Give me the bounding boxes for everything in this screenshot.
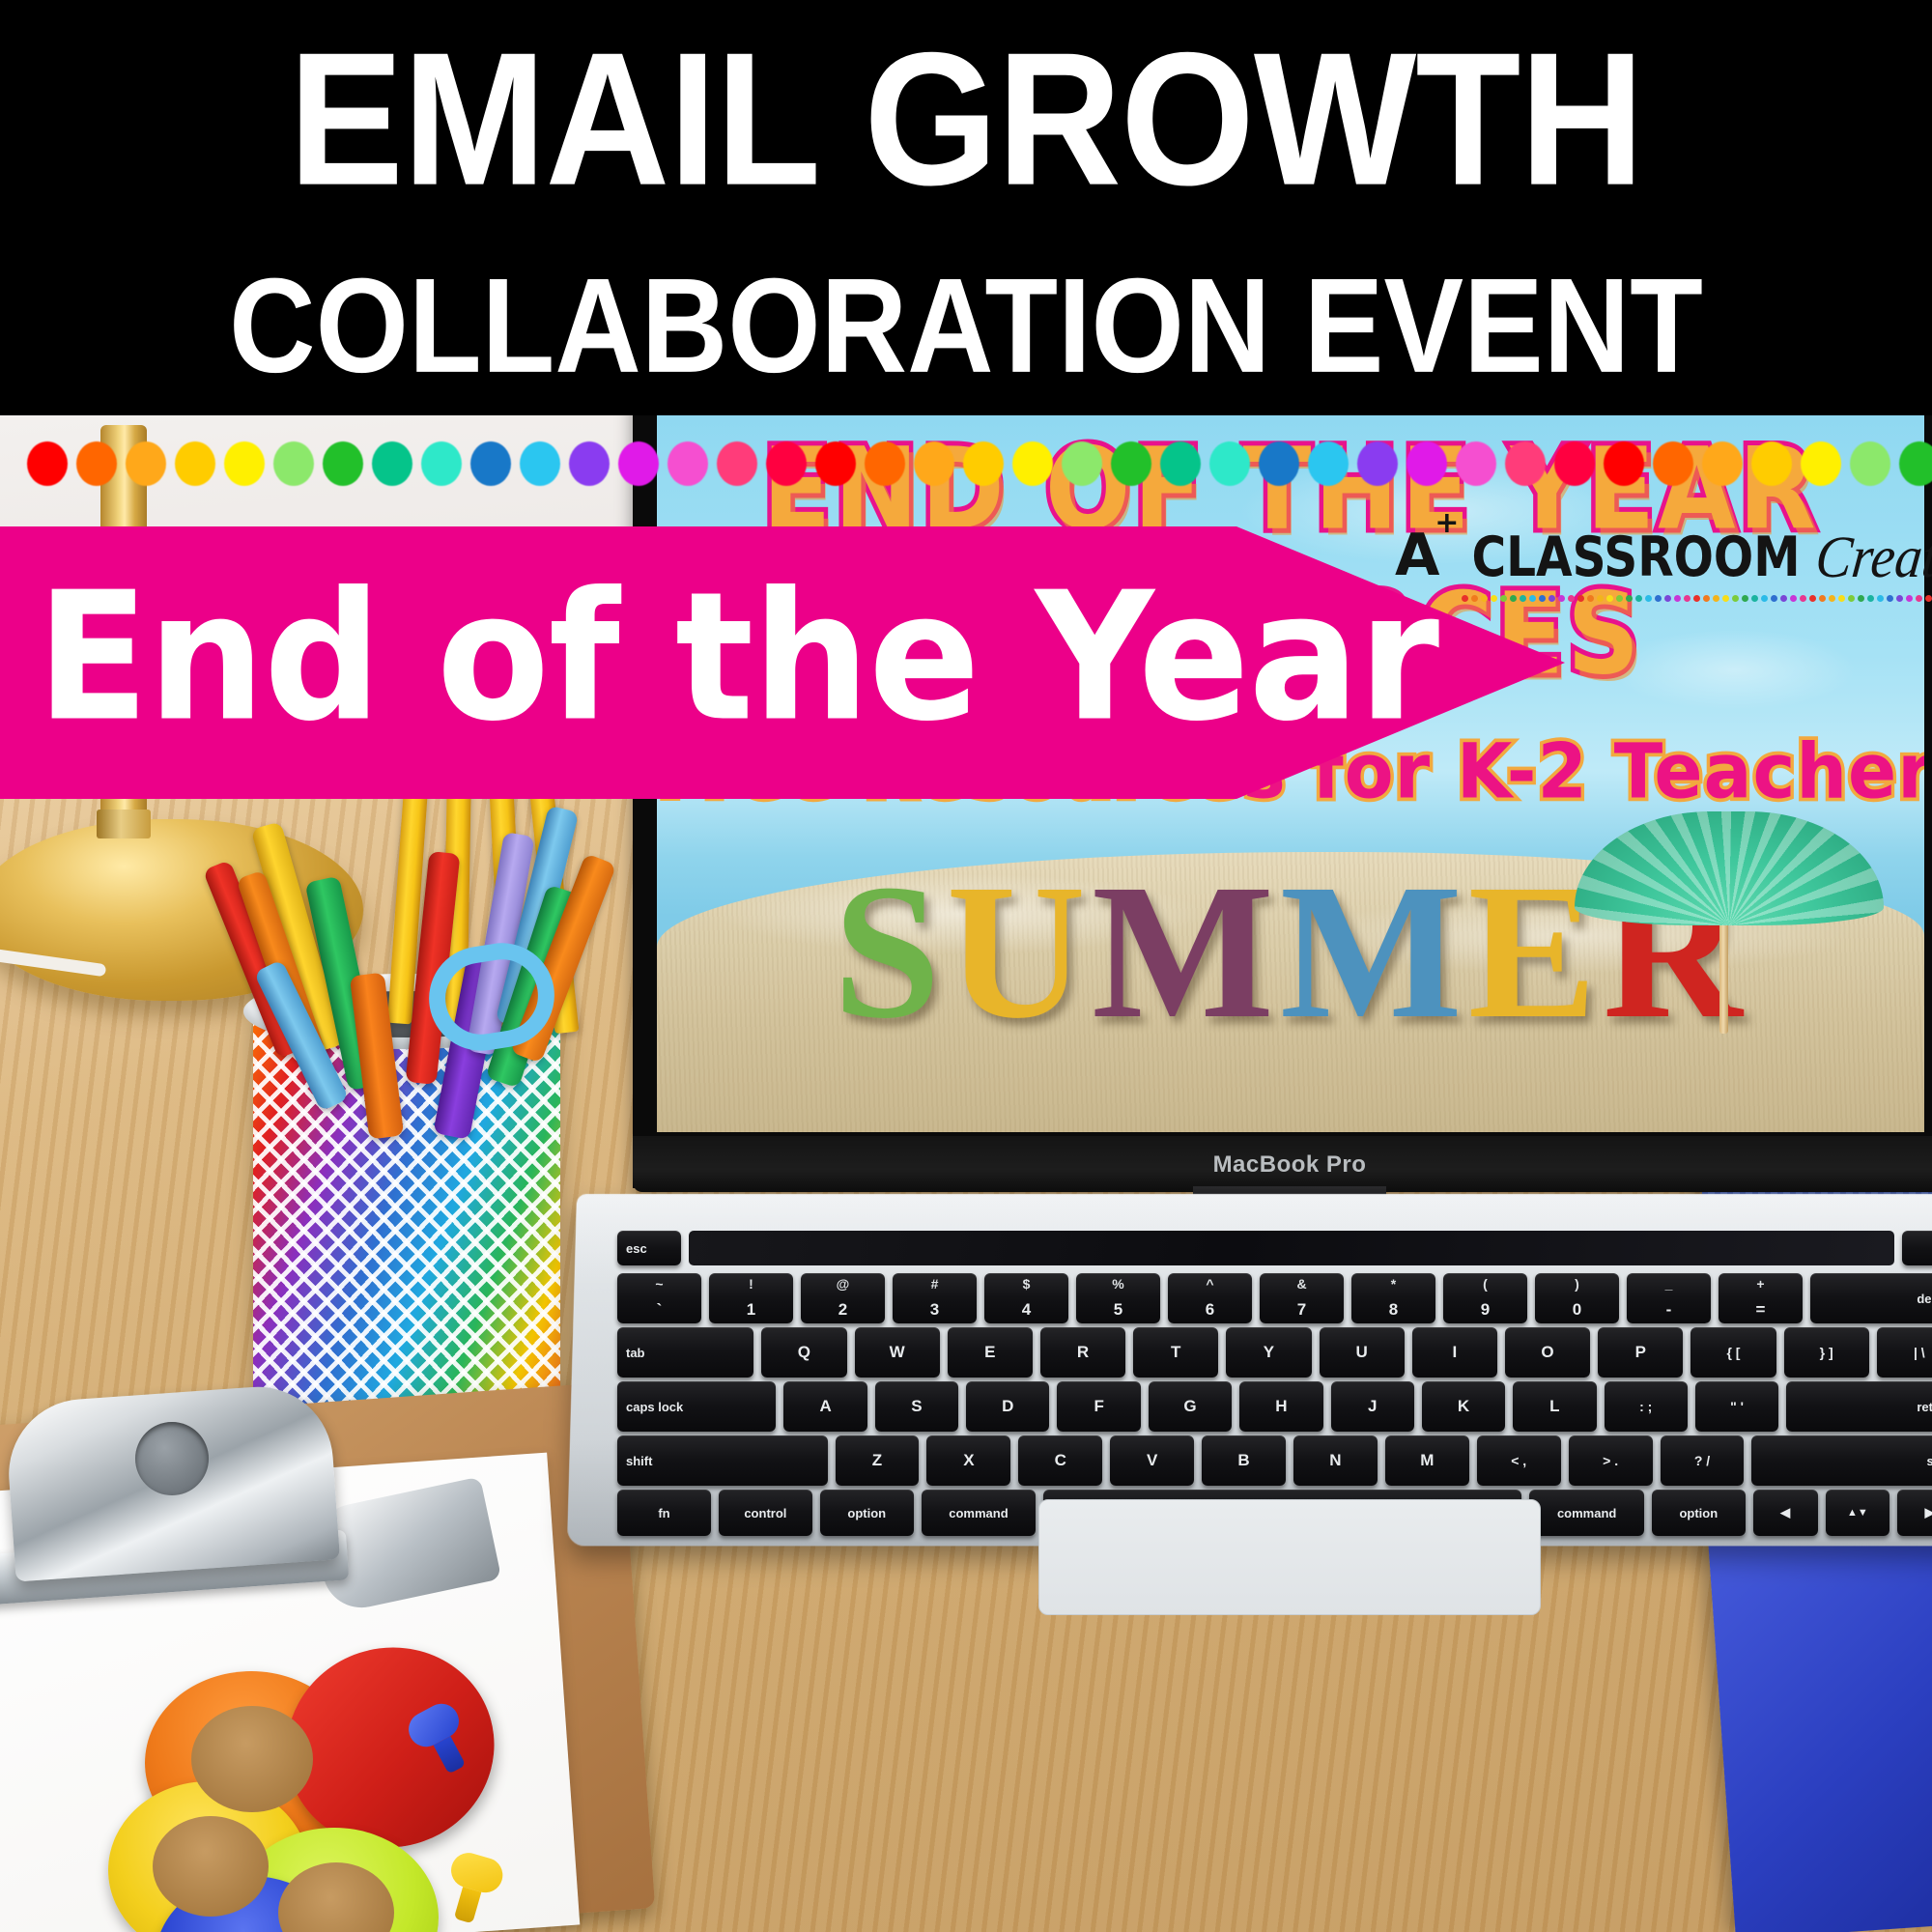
header-line-1: EMAIL GROWTH [0,25,1932,214]
key-m[interactable]: M [1385,1435,1469,1486]
logo-underline-dot [1616,595,1623,602]
keyboard-row-home: caps lock A S D F G H J K L : ; " ' retu… [604,1381,1932,1432]
logo-underline-dot [1539,595,1546,602]
summer-letter-s: S [833,856,946,1049]
key-option-right[interactable]: option [1652,1490,1746,1536]
keyboard-row-numbers: ~` !1 @2 #3 $4 %5 ^6 &7 *8 (9 )0 _- += d… [604,1273,1932,1323]
rainbow-dot [323,441,363,486]
key-command-right[interactable]: command [1529,1490,1643,1536]
logo-underline-dot [1491,595,1497,602]
key-8[interactable]: *8 [1351,1273,1435,1323]
rainbow-dot [273,441,314,486]
key-n[interactable]: N [1293,1435,1378,1486]
rainbow-dot [1899,441,1932,486]
logo-underline-dot [1780,595,1787,602]
logo-underline-dot [1713,595,1719,602]
key-3[interactable]: #3 [893,1273,977,1323]
title-header: EMAIL GROWTH COLLABORATION EVENT [0,0,1932,415]
key-control[interactable]: control [719,1490,812,1536]
logo-underline-dot [1848,595,1855,602]
logo-underline-dot [1809,595,1816,602]
key-semicolon[interactable]: : ; [1605,1381,1688,1432]
logo-creations: Creations [1812,524,1932,591]
key-a[interactable]: A [783,1381,867,1432]
rainbow-dot [1456,441,1496,486]
rainbow-dot [224,441,265,486]
logo-underline-dot [1751,595,1758,602]
washi-tape-core [191,1706,313,1812]
logo-underline-dot [1587,595,1594,602]
laptop-keyboard: esc ~` !1 @2 #3 $4 %5 ^6 &7 *8 (9 )0 _- … [604,1231,1932,1493]
key-return[interactable]: return [1786,1381,1932,1432]
key-shift-right[interactable]: shift [1751,1435,1932,1486]
logo-underline-dot [1703,595,1710,602]
umbrella-canopy [1575,811,1884,925]
touch-bar[interactable] [689,1231,1894,1265]
rainbow-dot [372,441,412,486]
key-q[interactable]: Q [761,1327,846,1378]
rainbow-dot [27,441,68,486]
trackpad[interactable] [1038,1499,1541,1615]
rainbow-dot [569,441,610,486]
rainbow-dot [1850,441,1890,486]
rainbow-dot [668,441,708,486]
key-power[interactable] [1902,1231,1932,1265]
logo-underline-dot [1606,595,1613,602]
rainbow-dot [76,441,117,486]
rainbow-dot [1259,441,1299,486]
key-r[interactable]: R [1040,1327,1125,1378]
logo-underline-dot [1500,595,1507,602]
key-l[interactable]: L [1513,1381,1596,1432]
logo-underline-dot [1568,595,1575,602]
rainbow-dot [1160,441,1201,486]
logo-underline-dot [1858,595,1864,602]
key-h[interactable]: H [1239,1381,1322,1432]
key-bracket-right[interactable]: } ] [1784,1327,1869,1378]
rainbow-dot [1357,441,1398,486]
key-9[interactable]: (9 [1443,1273,1527,1323]
logo-dot-underline [1395,595,1932,602]
key-g[interactable]: G [1149,1381,1232,1432]
summer-letter-m2: M [1280,856,1468,1049]
key-2[interactable]: @2 [801,1273,885,1323]
category-banner: End of the Year [0,526,1565,799]
key-tilde[interactable]: ~` [617,1273,701,1323]
key-backslash[interactable]: | \ [1877,1327,1932,1378]
rainbow-dot [1012,441,1053,486]
logo-underline-dot [1916,595,1922,602]
rainbow-dot [1209,441,1250,486]
rainbow-dot [618,441,659,486]
key-caps-lock[interactable]: caps lock [617,1381,776,1432]
key-w[interactable]: W [855,1327,940,1378]
logo-grade-a: A+ [1395,522,1438,589]
key-command-left[interactable]: command [922,1490,1036,1536]
logo-underline-dot [1896,595,1903,602]
key-x[interactable]: X [926,1435,1010,1486]
key-shift-left[interactable]: shift [617,1435,828,1486]
rainbow-dot-strip [0,437,1932,491]
key-comma[interactable]: < , [1477,1435,1561,1486]
key-5[interactable]: %5 [1076,1273,1160,1323]
key-arrow-right[interactable]: ▶ [1897,1490,1932,1536]
rainbow-dot [1751,441,1792,486]
key-k[interactable]: K [1422,1381,1505,1432]
rainbow-dot [914,441,954,486]
logo-underline-dot [1925,595,1932,602]
key-equals[interactable]: += [1719,1273,1803,1323]
key-f[interactable]: F [1057,1381,1140,1432]
keyboard-row-bottom: shift Z X C V B N M < , > . ? / shift [604,1435,1932,1486]
logo-underline-dot [1471,595,1478,602]
lamp-ring [97,810,151,838]
logo-underline-dot [1635,595,1642,602]
logo-underline-dot [1645,595,1652,602]
logo-underline-dot [1887,595,1893,602]
key-minus[interactable]: _- [1627,1273,1711,1323]
key-v[interactable]: V [1110,1435,1194,1486]
rainbow-dot [1505,441,1546,486]
key-c[interactable]: C [1018,1435,1102,1486]
logo-underline-dot [1529,595,1536,602]
logo-underline-dot [1626,595,1633,602]
rainbow-dot [1702,441,1743,486]
logo-underline-dot [1829,595,1835,602]
logo-plus-icon: + [1435,506,1458,540]
logo-underline-dot [1732,595,1739,602]
key-b[interactable]: B [1202,1435,1286,1486]
key-j[interactable]: J [1331,1381,1414,1432]
logo-wordmark: A+ CLASSROOM Creations [1395,522,1932,589]
key-7[interactable]: &7 [1260,1273,1344,1323]
rainbow-dot [766,441,807,486]
key-tab[interactable]: tab [617,1327,753,1378]
logo-underline-dot [1693,595,1700,602]
logo-underline-dot [1655,595,1662,602]
logo-underline-dot [1838,595,1845,602]
rainbow-dot [470,441,511,486]
keyboard-row-function: esc [604,1231,1932,1265]
rainbow-dot [520,441,560,486]
cocktail-umbrella-icon [1575,811,1884,956]
key-u[interactable]: U [1320,1327,1405,1378]
logo-underline-dot [1800,595,1806,602]
rainbow-dot [1308,441,1349,486]
rainbow-dot [865,441,905,486]
logo-underline-dot [1761,595,1768,602]
key-d[interactable]: D [966,1381,1049,1432]
logo-underline-dot [1674,595,1681,602]
rainbow-dot [815,441,856,486]
key-1[interactable]: !1 [709,1273,793,1323]
key-y[interactable]: Y [1226,1327,1311,1378]
key-p[interactable]: P [1598,1327,1683,1378]
logo-underline-dot [1577,595,1584,602]
header-line-2: COLLABORATION EVENT [0,259,1932,393]
rainbow-dot [421,441,462,486]
logo-classroom: CLASSROOM [1471,525,1800,588]
logo-underline-dot [1684,595,1690,602]
key-e[interactable]: E [948,1327,1033,1378]
rainbow-dot [1111,441,1151,486]
key-arrow-left[interactable]: ◀ [1753,1490,1818,1536]
logo-underline-dot [1548,595,1555,602]
key-arrow-updown[interactable]: ▲▼ [1826,1490,1890,1536]
key-quote[interactable]: " ' [1695,1381,1778,1432]
logo-underline-dot [1462,595,1468,602]
banner-label: End of the Year [37,569,1235,747]
rainbow-dot [963,441,1004,486]
key-period[interactable]: > . [1569,1435,1653,1486]
logo-underline-dot [1722,595,1729,602]
summer-letter-u: U [947,856,1092,1049]
key-0[interactable]: )0 [1535,1273,1619,1323]
rainbow-dot [126,441,166,486]
promo-graphic: SUMMER END OF THE YEAR RESOURCES Free Re… [0,0,1932,1932]
logo-underline-dot [1481,595,1488,602]
rainbow-dot [175,441,215,486]
key-o[interactable]: O [1505,1327,1590,1378]
washi-tape-core [153,1816,269,1917]
logo-underline-dot [1664,595,1671,602]
key-z[interactable]: Z [836,1435,920,1486]
key-delete[interactable]: delete [1810,1273,1932,1323]
key-4[interactable]: $4 [984,1273,1068,1323]
logo-underline-dot [1906,595,1913,602]
key-6[interactable]: ^6 [1168,1273,1252,1323]
rainbow-dot [717,441,757,486]
macbook-pro: SUMMER END OF THE YEAR RESOURCES Free Re… [633,319,1932,1507]
summer-letter-m1: M [1092,856,1280,1049]
logo-underline-dot [1558,595,1565,602]
key-slash[interactable]: ? / [1661,1435,1745,1486]
logo-underline-dot [1790,595,1797,602]
key-fn[interactable]: fn [617,1490,711,1536]
rainbow-dot [1406,441,1447,486]
logo-underline-dot [1520,595,1526,602]
key-option-left[interactable]: option [820,1490,914,1536]
clipboard-clip-hole [135,1422,209,1495]
rainbow-dot [1801,441,1841,486]
macbook-pro-label: MacBook Pro [633,1151,1932,1179]
brand-logo: A+ CLASSROOM Creations [1395,522,1932,602]
key-t[interactable]: T [1133,1327,1218,1378]
rainbow-dot [1062,441,1102,486]
logo-underline-dot [1877,595,1884,602]
logo-underline-dot [1597,595,1604,602]
logo-underline-dot [1742,595,1748,602]
key-esc[interactable]: esc [617,1231,681,1265]
key-i[interactable]: I [1412,1327,1497,1378]
logo-underline-dot [1771,595,1777,602]
rainbow-dot [1653,441,1693,486]
logo-underline-dot [1867,595,1874,602]
keyboard-row-qwerty: tab Q W E R T Y U I O P { [ } ] | \ [604,1327,1932,1378]
logo-underline-dot [1819,595,1826,602]
rainbow-dot [1604,441,1644,486]
key-s[interactable]: S [875,1381,958,1432]
key-bracket-left[interactable]: { [ [1690,1327,1776,1378]
rainbow-dot [1554,441,1595,486]
logo-underline-dot [1510,595,1517,602]
